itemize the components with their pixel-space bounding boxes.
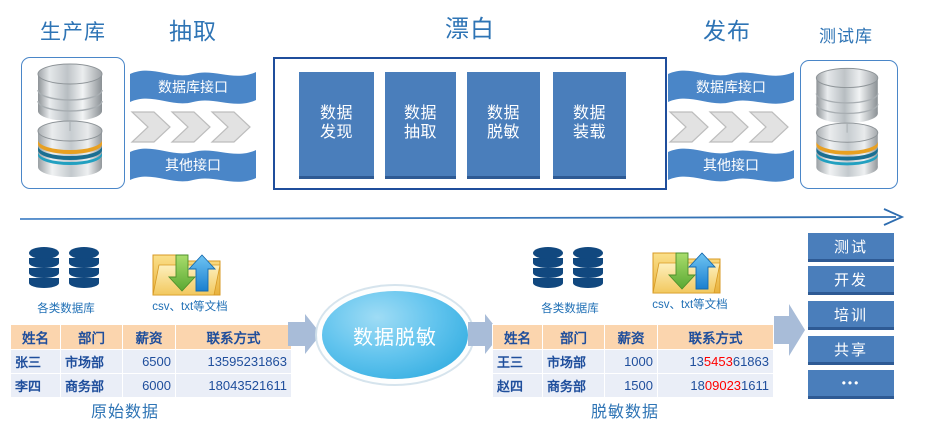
col-salary: 薪资 xyxy=(123,325,176,350)
step-box-1-line2: 抽取 xyxy=(404,124,437,143)
cell-salary: 6500 xyxy=(123,350,176,374)
step-box-0-line2: 发现 xyxy=(320,124,353,143)
step-box-2-line1: 数据 xyxy=(487,105,520,124)
arrow-to-process xyxy=(288,312,322,356)
title-target-db: 测试库 xyxy=(790,28,902,45)
target-file-caption: csv、txt等文档 xyxy=(632,296,748,312)
source-db-caption: 各类数据库 xyxy=(16,300,116,316)
cell-phone-masked: 13545361863 xyxy=(658,350,774,374)
source-data-table: 姓名 部门 薪资 联系方式 张三 市场部 6500 13595231863 李四… xyxy=(10,324,292,398)
phone-suffix: 1611 xyxy=(741,378,769,393)
step-box-3-line1: 数据 xyxy=(573,105,606,124)
cell-dept: 商务部 xyxy=(543,374,605,398)
table-row: 王三 市场部 1000 13545361863 xyxy=(493,350,774,374)
source-file-folder-icon xyxy=(150,245,226,303)
ribbon-db-interface-left: 数据库接口 xyxy=(130,68,256,106)
table-header-row: 姓名 部门 薪资 联系方式 xyxy=(11,325,292,350)
cell-phone: 13595231863 xyxy=(176,350,292,374)
title-bleach: 漂白 xyxy=(380,18,560,42)
ribbon-db-interface-left-label: 数据库接口 xyxy=(158,77,228,97)
output-button-more[interactable]: ••• xyxy=(808,370,894,399)
database-stack-icon xyxy=(22,58,122,188)
step-box-2[interactable]: 数据 脱敏 xyxy=(467,72,540,179)
col-dept: 部门 xyxy=(543,325,605,350)
col-salary: 薪资 xyxy=(605,325,658,350)
cell-name-masked: 王三 xyxy=(493,350,543,374)
database-stack-icon xyxy=(801,61,897,189)
step-box-1[interactable]: 数据 抽取 xyxy=(385,72,456,179)
cell-dept: 市场部 xyxy=(543,350,605,374)
table-header-row: 姓名 部门 薪资 联系方式 xyxy=(493,325,774,350)
flow-divider-arrow xyxy=(18,206,914,230)
title-extract: 抽取 xyxy=(138,20,248,43)
table-row: 张三 市场部 6500 13595231863 xyxy=(11,350,292,374)
phone-prefix: 18 xyxy=(690,378,704,393)
table-row: 赵四 商务部 1500 18090231611 xyxy=(493,374,774,398)
step-box-3-line2: 装载 xyxy=(573,124,606,143)
bleach-frame: 数据 发现 数据 抽取 数据 脱敏 数据 装载 xyxy=(273,57,667,190)
col-contact: 联系方式 xyxy=(658,325,774,350)
step-box-0-line1: 数据 xyxy=(320,105,353,124)
ribbon-other-interface-right: 其他接口 xyxy=(668,146,794,184)
col-name: 姓名 xyxy=(493,325,543,350)
output-button-2-label: 培训 xyxy=(834,304,868,325)
cell-dept: 市场部 xyxy=(61,350,123,374)
output-button-1-label: 开发 xyxy=(834,269,868,290)
output-button-more-label: ••• xyxy=(842,376,861,390)
step-box-2-line2: 脱敏 xyxy=(487,124,520,143)
col-name: 姓名 xyxy=(11,325,61,350)
ribbon-db-interface-right-label: 数据库接口 xyxy=(696,77,766,97)
table-row: 李四 商务部 6000 18043521611 xyxy=(11,374,292,398)
cell-name-masked: 赵四 xyxy=(493,374,543,398)
output-button-2[interactable]: 培训 xyxy=(808,301,894,330)
title-publish: 发布 xyxy=(672,20,782,43)
target-data-table: 姓名 部门 薪资 联系方式 王三 市场部 1000 13545361863 赵四… xyxy=(492,324,774,398)
source-caption: 原始数据 xyxy=(60,398,190,422)
cell-salary: 6000 xyxy=(123,374,176,398)
process-oval[interactable]: 数据脱敏 xyxy=(322,291,468,379)
cell-name: 李四 xyxy=(11,374,61,398)
cell-phone: 18043521611 xyxy=(176,374,292,398)
col-dept: 部门 xyxy=(61,325,123,350)
chevron-group-right xyxy=(668,110,794,149)
ribbon-other-interface-left: 其他接口 xyxy=(130,146,256,184)
cell-phone-masked: 18090231611 xyxy=(658,374,774,398)
cell-dept: 商务部 xyxy=(61,374,123,398)
source-mini-database-icon xyxy=(26,246,106,292)
output-button-1[interactable]: 开发 xyxy=(808,266,894,295)
ribbon-other-interface-right-label: 其他接口 xyxy=(703,155,759,175)
step-box-1-line1: 数据 xyxy=(404,105,437,124)
process-oval-label: 数据脱敏 xyxy=(353,321,437,350)
target-caption: 脱敏数据 xyxy=(560,398,690,422)
target-db-caption: 各类数据库 xyxy=(520,300,620,316)
phone-suffix: 61863 xyxy=(733,354,769,369)
cell-salary-masked: 1000 xyxy=(605,350,658,374)
step-box-3[interactable]: 数据 装载 xyxy=(553,72,626,179)
source-db-panel xyxy=(21,57,125,189)
source-file-caption: csv、txt等文档 xyxy=(132,298,248,314)
cell-salary-masked: 1500 xyxy=(605,374,658,398)
output-button-3[interactable]: 共享 xyxy=(808,336,894,365)
title-source-db: 生产库 xyxy=(14,22,132,43)
ribbon-db-interface-right: 数据库接口 xyxy=(668,68,794,106)
output-button-0[interactable]: 测试 xyxy=(808,233,894,262)
col-contact: 联系方式 xyxy=(176,325,292,350)
output-button-0-label: 测试 xyxy=(834,236,868,257)
chevron-group-left xyxy=(130,110,256,149)
phone-prefix: 13 xyxy=(689,354,703,369)
arrow-to-outputs xyxy=(774,300,806,360)
target-db-panel xyxy=(800,60,898,189)
step-box-0[interactable]: 数据 发现 xyxy=(299,72,374,179)
target-file-folder-icon xyxy=(650,243,726,301)
phone-masked-part: 5453 xyxy=(704,354,733,369)
phone-masked-part: 09023 xyxy=(705,378,741,393)
target-mini-database-icon xyxy=(530,246,610,292)
ribbon-other-interface-left-label: 其他接口 xyxy=(165,155,221,175)
cell-name: 张三 xyxy=(11,350,61,374)
output-button-3-label: 共享 xyxy=(834,339,868,360)
